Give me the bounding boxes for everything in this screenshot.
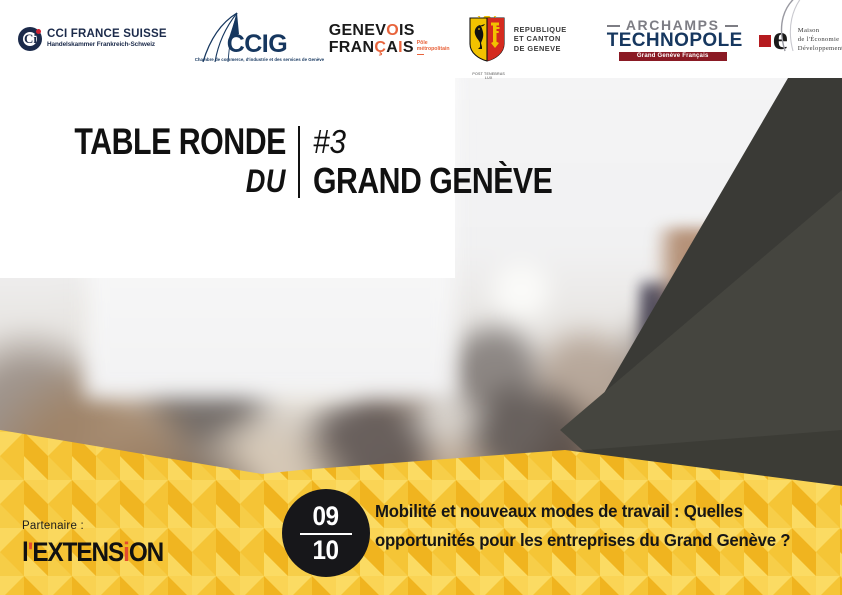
partner-block: Partenaire : l'EXTENSiON <box>22 520 179 566</box>
title-table-ronde: TABLE RONDE <box>74 122 285 162</box>
geneva-motto: POST TENEBRAS LUX <box>469 72 509 80</box>
gf-line2-b: A <box>386 39 398 56</box>
logo-maison-economie-developpement: e Maison de l'Économie Développement <box>759 9 842 69</box>
poster-title: TABLE RONDE DU #3 GRAND GENÈVE <box>28 122 598 200</box>
geneva-line2: ET CANTON <box>514 34 567 44</box>
cci-text-block: CCI FRANCE SUISSE Handelskammer Frankrei… <box>47 28 167 50</box>
cci-title: CCI FRANCE SUISSE <box>47 28 167 40</box>
gf-line2: FRANÇAIS <box>329 39 414 57</box>
event-headline-line1: Mobilité et nouveaux modes de travail : … <box>375 497 809 526</box>
cci-subtitle: Handelskammer Frankreich-Schweiz <box>47 40 167 50</box>
logo-genevois-francais: GENEVOIS FRANÇAIS Pôle métropolitain <box>329 16 447 62</box>
event-poster: TABLE RONDE DU #3 GRAND GENÈVE <box>0 0 842 595</box>
title-du: DU <box>67 162 286 200</box>
partner-logo-bar: Ci CCI FRANCE SUISSE Handelskammer Frank… <box>0 0 842 78</box>
gf-line1: GENEVOIS <box>329 22 415 40</box>
logo-republique-canton-geneve: POST TENEBRAS LUX REPUBLIQUE ET CANTON D… <box>469 6 589 72</box>
title-right-column: #3 GRAND GENÈVE <box>300 122 598 200</box>
gf-accent-bar <box>417 54 424 55</box>
cci-circle-icon: Ci <box>18 27 42 51</box>
cci-mark-letters: Ci <box>24 30 37 48</box>
photo-speaker-tie <box>690 306 707 372</box>
partner-logo-lextension: l'EXTENSiON <box>22 538 163 566</box>
ccig-wordmark: CCIG <box>227 32 288 57</box>
med-red-square-icon <box>759 35 771 47</box>
title-edition-number: #3 <box>313 122 569 162</box>
event-date-badge: 09 10 <box>282 489 370 577</box>
event-day: 09 <box>313 503 339 530</box>
med-swoosh-icon <box>771 0 815 53</box>
partner-label: Partenaire : <box>22 520 179 532</box>
gf-tagline-line2: métropolitain <box>417 46 450 52</box>
cci-red-dot-icon <box>36 29 41 34</box>
gf-line1-o: O <box>386 22 399 39</box>
geneva-line3: DE GENEVE <box>514 44 567 54</box>
event-headline: Mobilité et nouveaux modes de travail : … <box>375 497 809 555</box>
archamps-tagline-band: Grand Genève Français <box>619 52 727 61</box>
partner-logo-part2: ON <box>129 537 163 567</box>
gf-line2-c: Ç <box>374 39 386 56</box>
partner-logo-part1: EXTENS <box>32 537 123 567</box>
event-headline-line2: opportunités pour les entreprises du Gra… <box>375 526 809 555</box>
technopole-wordmark: TECHNOPOLE <box>607 30 739 52</box>
gf-line1-a: GENEV <box>329 22 387 39</box>
ccig-subtitle: Chambre de commerce, d'industrie et des … <box>195 57 324 62</box>
geneva-line1: REPUBLIQUE <box>514 25 567 35</box>
title-grand-geneve: GRAND GENÈVE <box>313 162 552 200</box>
logo-cci-france-suisse: Ci CCI FRANCE SUISSE Handelskammer Frank… <box>18 27 167 51</box>
logo-archamps-technopole: ARCHAMPS TECHNOPOLE Grand Genève Françai… <box>607 15 739 63</box>
logo-ccig: CCIG Chambre de commerce, d'industrie et… <box>195 10 307 68</box>
gf-line2-c2: S <box>403 39 414 56</box>
event-month: 10 <box>313 537 339 564</box>
gf-tagline: Pôle métropolitain <box>417 40 450 52</box>
gf-line2-a: FRAN <box>329 39 375 56</box>
title-left-column: TABLE RONDE DU <box>28 122 298 200</box>
geneva-coat-of-arms-icon: POST TENEBRAS LUX <box>469 16 505 62</box>
gf-line1-b: IS <box>399 22 415 39</box>
geneva-text-block: REPUBLIQUE ET CANTON DE GENEVE <box>514 25 567 54</box>
